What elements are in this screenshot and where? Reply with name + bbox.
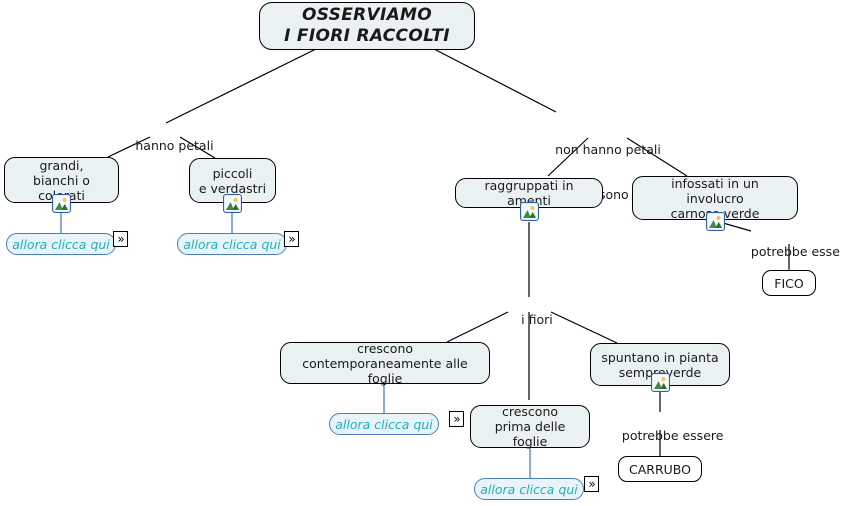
- title-line-2: I FIORI RACCOLTI: [284, 26, 450, 47]
- edge-label-i-fiori: i fiori: [498, 297, 560, 342]
- picture-image-icon[interactable]: [223, 194, 242, 213]
- link-allora-clicca-qui-piccoli[interactable]: allora clicca qui: [177, 233, 287, 255]
- link-label: allora clicca qui: [12, 237, 110, 252]
- edge-label-potrebbe-essere-carrubo: potrebbe essere: [606, 413, 714, 458]
- node-crescono-prima-delle-foglie[interactable]: crescono prima delle foglie: [470, 405, 590, 448]
- node-prima-foglie-line2: prima delle foglie: [479, 419, 581, 449]
- chevron-right-icon[interactable]: »: [113, 231, 128, 247]
- picture-image-icon[interactable]: [52, 194, 71, 213]
- leaf-carrubo-label: CARRUBO: [629, 462, 691, 477]
- link-label: allora clicca qui: [183, 237, 281, 252]
- link-label: allora clicca qui: [335, 417, 433, 432]
- leaf-node-carrubo[interactable]: CARRUBO: [618, 456, 702, 482]
- node-infossati-line1: infossati in un involucro: [641, 176, 789, 206]
- picture-image-icon[interactable]: [520, 202, 539, 221]
- title-line-1: OSSERVIAMO: [284, 5, 450, 26]
- chevron-right-icon[interactable]: »: [284, 231, 299, 247]
- link-label: allora clicca qui: [480, 482, 578, 497]
- chevron-right-icon[interactable]: »: [449, 411, 464, 427]
- edge-label-potrebbe-essere-fico: potrebbe essere: [735, 229, 841, 274]
- leaf-node-fico[interactable]: FICO: [762, 270, 816, 296]
- node-contemporaneamente-line2: contemporaneamente alle foglie: [289, 356, 481, 386]
- node-prima-foglie-line1: crescono: [479, 404, 581, 419]
- picture-image-icon[interactable]: [651, 373, 670, 392]
- node-crescono-contemporaneamente-alle-foglie[interactable]: crescono contemporaneamente alle foglie: [280, 342, 490, 384]
- node-sempreverde-line1: spuntano in pianta: [601, 350, 718, 365]
- link-allora-clicca-qui-contemporaneamente[interactable]: allora clicca qui: [329, 413, 439, 435]
- chevron-right-icon[interactable]: »: [584, 476, 599, 492]
- link-allora-clicca-qui-grandi[interactable]: allora clicca qui: [6, 233, 116, 255]
- edge-label-non-hanno-petali-line1: non hanno petali: [548, 142, 668, 157]
- concept-map-canvas: OSSERVIAMO I FIORI RACCOLTI hanno petali…: [0, 0, 841, 506]
- concept-map-title: OSSERVIAMO I FIORI RACCOLTI: [259, 2, 475, 50]
- picture-image-icon[interactable]: [706, 212, 725, 231]
- node-grandi-line1: grandi,: [13, 158, 110, 173]
- node-piccoli-line1: piccoli: [199, 166, 266, 181]
- leaf-fico-label: FICO: [774, 276, 803, 291]
- link-allora-clicca-qui-prima-foglie[interactable]: allora clicca qui: [474, 478, 584, 500]
- node-contemporaneamente-line1: crescono: [289, 341, 481, 356]
